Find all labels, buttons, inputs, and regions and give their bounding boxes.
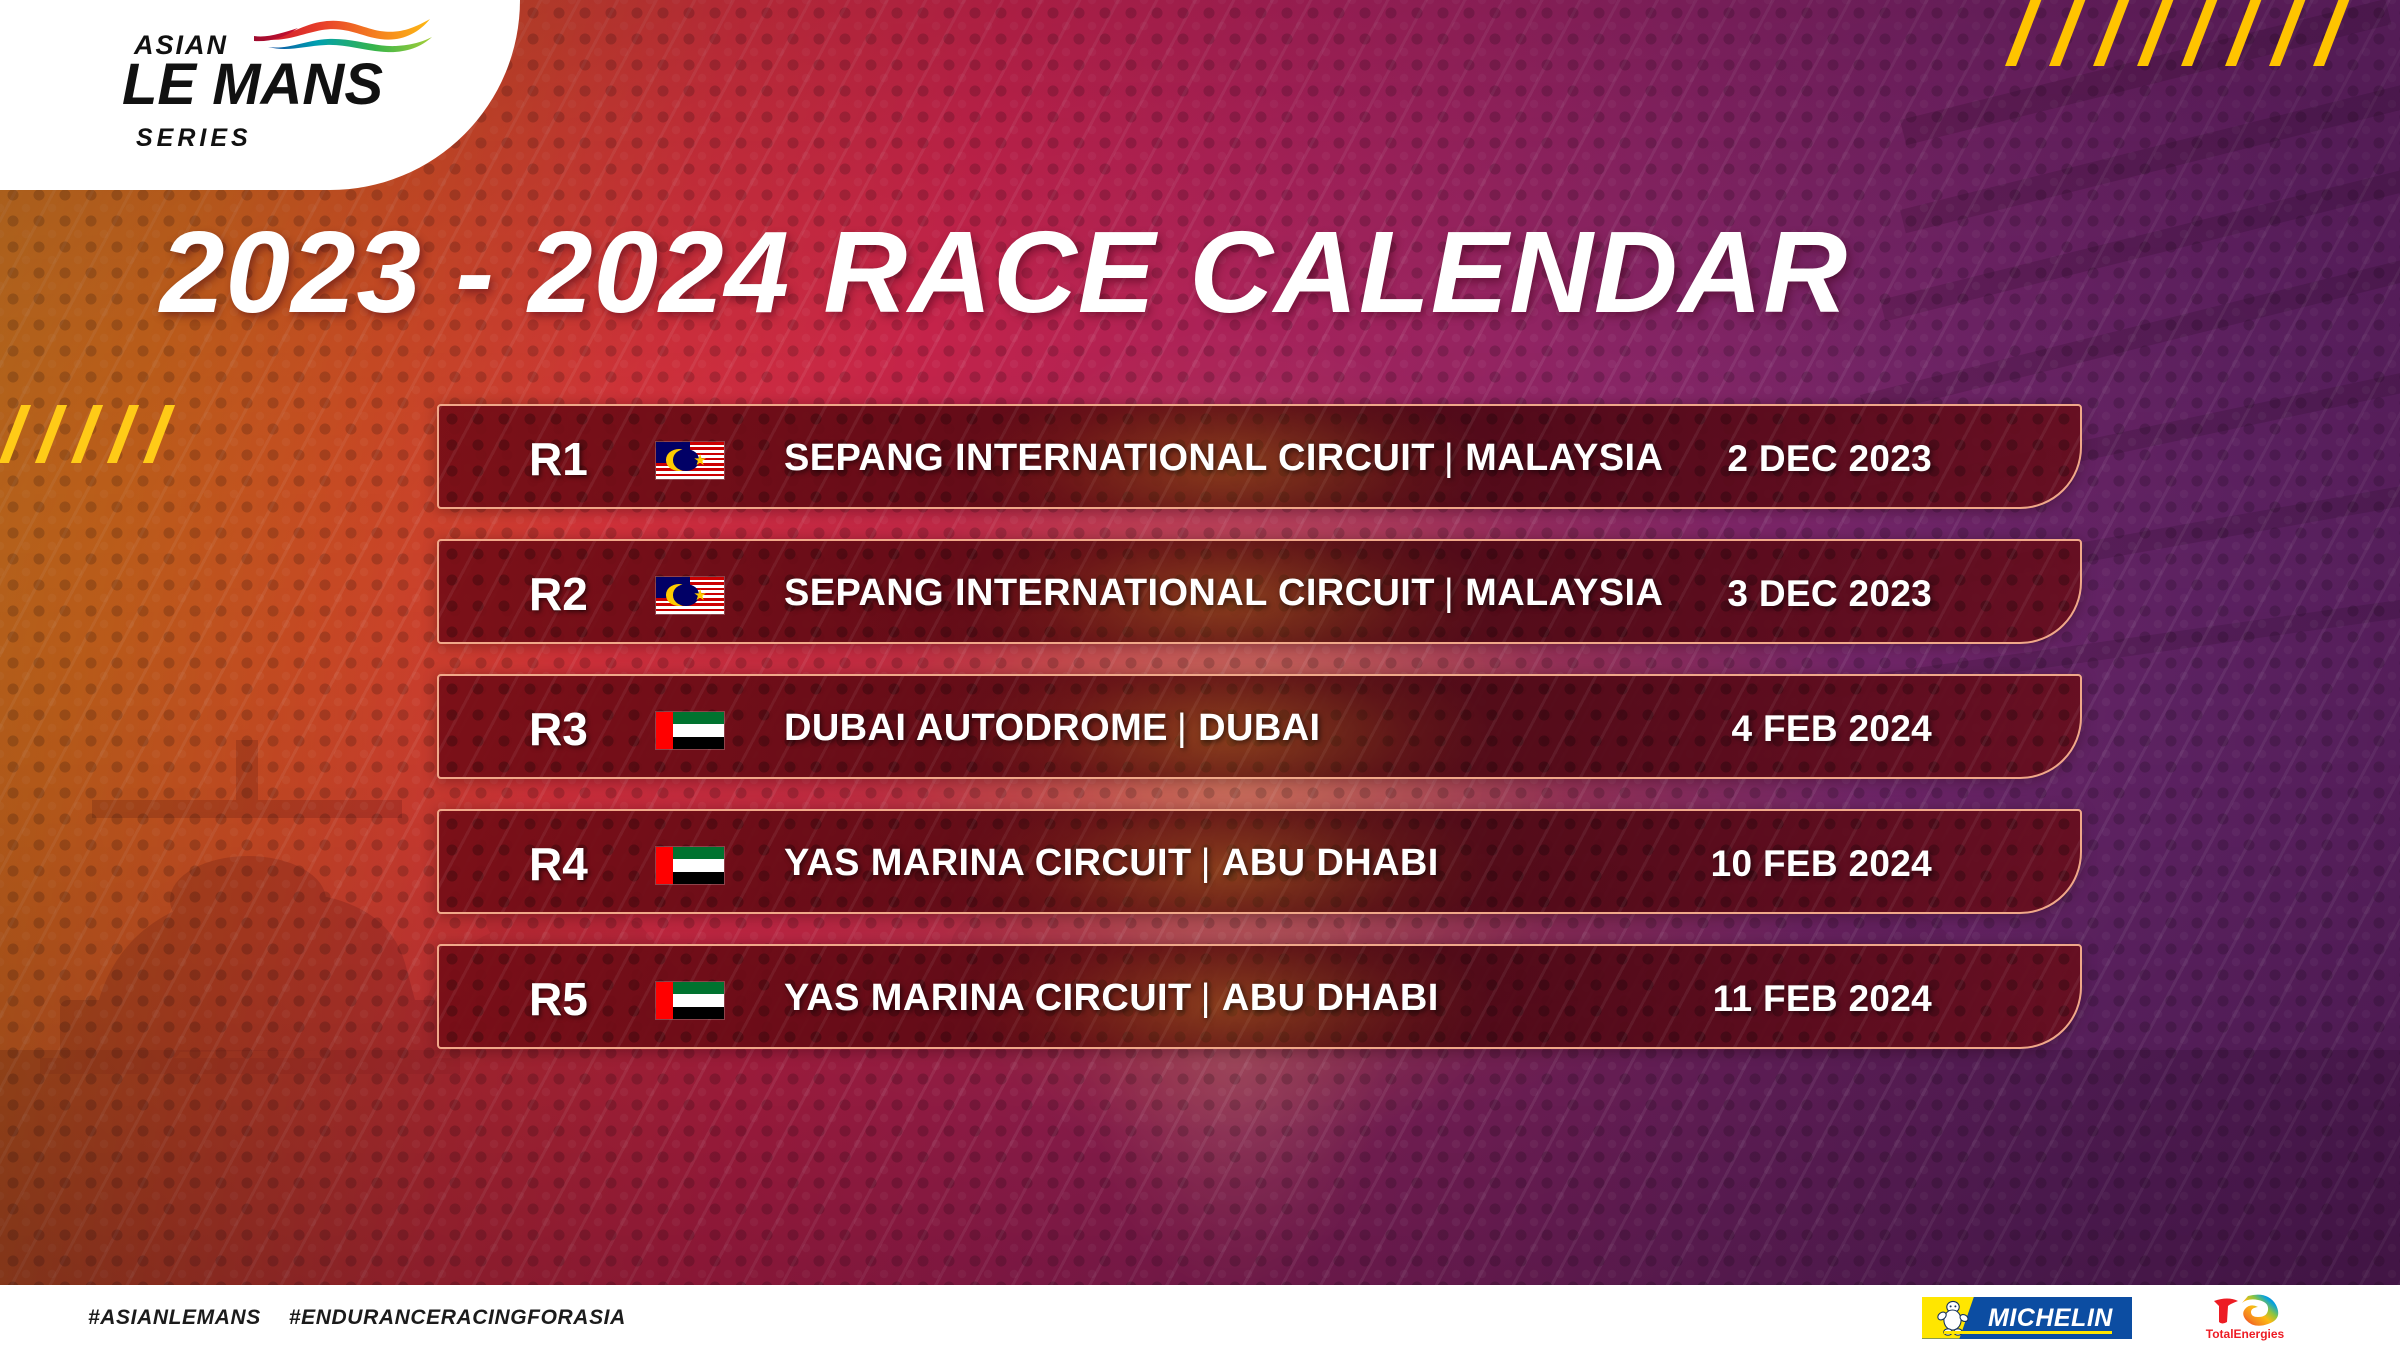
asian-le-mans-series-logo: ASIAN LE MANS SERIES [118,18,408,168]
uae-flag [655,711,725,750]
stripe [2313,0,2354,66]
michelin-logo[interactable]: MICHELIN [1922,1297,2132,1339]
separator: | [1177,707,1187,750]
stripe [35,405,67,463]
circuit-name: YAS MARINA CIRCUIT [784,842,1192,885]
race-date: 2 DEC 2023 [1727,406,1932,509]
round-number: R5 [529,946,588,1049]
race-list: R1 ★ SEPANG INTERNATIONAL CIRCUIT | MALA… [437,404,2082,1079]
race-date: 4 FEB 2024 [1732,676,1932,779]
circuit-name: DUBAI AUTODROME [784,707,1168,750]
hashtag-enduranceracingforasia: #ENDURANCERACINGFORASIA [289,1306,626,1330]
decorative-stripes-top-right [2020,0,2372,66]
totalenergies-logo[interactable]: TotalEnergies [2190,1292,2300,1344]
uae-flag [655,981,725,1020]
totalenergies-mark-icon [2204,1292,2286,1326]
race-row[interactable]: R1 ★ SEPANG INTERNATIONAL CIRCUIT | MALA… [437,404,2082,509]
stripe [2049,0,2090,66]
stripe [2269,0,2310,66]
round-number: R1 [529,406,588,509]
separator: | [1444,437,1454,480]
hashtag-asianlemans: #ASIANLEMANS [88,1306,261,1330]
circuit-name: YAS MARINA CIRCUIT [784,977,1192,1020]
stripe [143,405,175,463]
uae-flag [655,846,725,885]
circuit-name: SEPANG INTERNATIONAL CIRCUIT [784,572,1435,615]
page-title: 2023 - 2024 RACE CALENDAR [160,213,2260,333]
sponsor-group: MICHELIN [1922,1285,2300,1350]
stripe [71,405,103,463]
stripe [2137,0,2178,66]
totalenergies-wordmark: TotalEnergies [2190,1327,2300,1341]
venue-label: SEPANG INTERNATIONAL CIRCUIT | MALAYSIA [784,406,1663,509]
country-name: MALAYSIA [1465,572,1663,615]
malaysia-flag: ★ [655,441,725,480]
round-number: R3 [529,676,588,779]
country-name: MALAYSIA [1465,437,1663,480]
country-name: DUBAI [1198,707,1320,750]
decorative-stripes-left [10,405,190,463]
stripe [2181,0,2222,66]
venue-label: YAS MARINA CIRCUIT | ABU DHABI [784,946,1439,1049]
stripe [2093,0,2134,66]
logo-text-lemans: LE MANS [122,56,383,114]
malaysia-flag: ★ [655,576,725,615]
footer-bar: #ASIANLEMANS #ENDURANCERACINGFORASIA [0,1285,2400,1350]
hashtag-group: #ASIANLEMANS #ENDURANCERACINGFORASIA [88,1285,626,1350]
michelin-underline [1944,1331,2112,1334]
separator: | [1201,977,1211,1020]
race-calendar-poster: ASIAN LE MANS SERIES 2023 - 2024 RACE CA… [0,0,2400,1350]
race-row[interactable]: R4 YAS MARINA CIRCUIT | ABU DHABI 10 FEB… [437,809,2082,914]
separator: | [1201,842,1211,885]
michelin-wordmark: MICHELIN [1988,1304,2113,1333]
venue-label: DUBAI AUTODROME | DUBAI [784,676,1321,779]
stripe [2225,0,2266,66]
round-number: R2 [529,541,588,644]
race-row[interactable]: R3 DUBAI AUTODROME | DUBAI 4 FEB 2024 [437,674,2082,779]
venue-label: YAS MARINA CIRCUIT | ABU DHABI [784,811,1439,914]
race-date: 3 DEC 2023 [1727,541,1932,644]
race-date: 11 FEB 2024 [1713,946,1932,1049]
separator: | [1444,572,1454,615]
round-number: R4 [529,811,588,914]
logo-text-series: SERIES [136,124,252,153]
country-name: ABU DHABI [1222,842,1439,885]
stripe [107,405,139,463]
venue-label: SEPANG INTERNATIONAL CIRCUIT | MALAYSIA [784,541,1663,644]
race-date: 10 FEB 2024 [1711,811,1932,914]
circuit-name: SEPANG INTERNATIONAL CIRCUIT [784,437,1435,480]
race-row[interactable]: R5 YAS MARINA CIRCUIT | ABU DHABI 11 FEB… [437,944,2082,1049]
race-row[interactable]: R2 ★ SEPANG INTERNATIONAL CIRCUIT | MALA… [437,539,2082,644]
country-name: ABU DHABI [1222,977,1439,1020]
